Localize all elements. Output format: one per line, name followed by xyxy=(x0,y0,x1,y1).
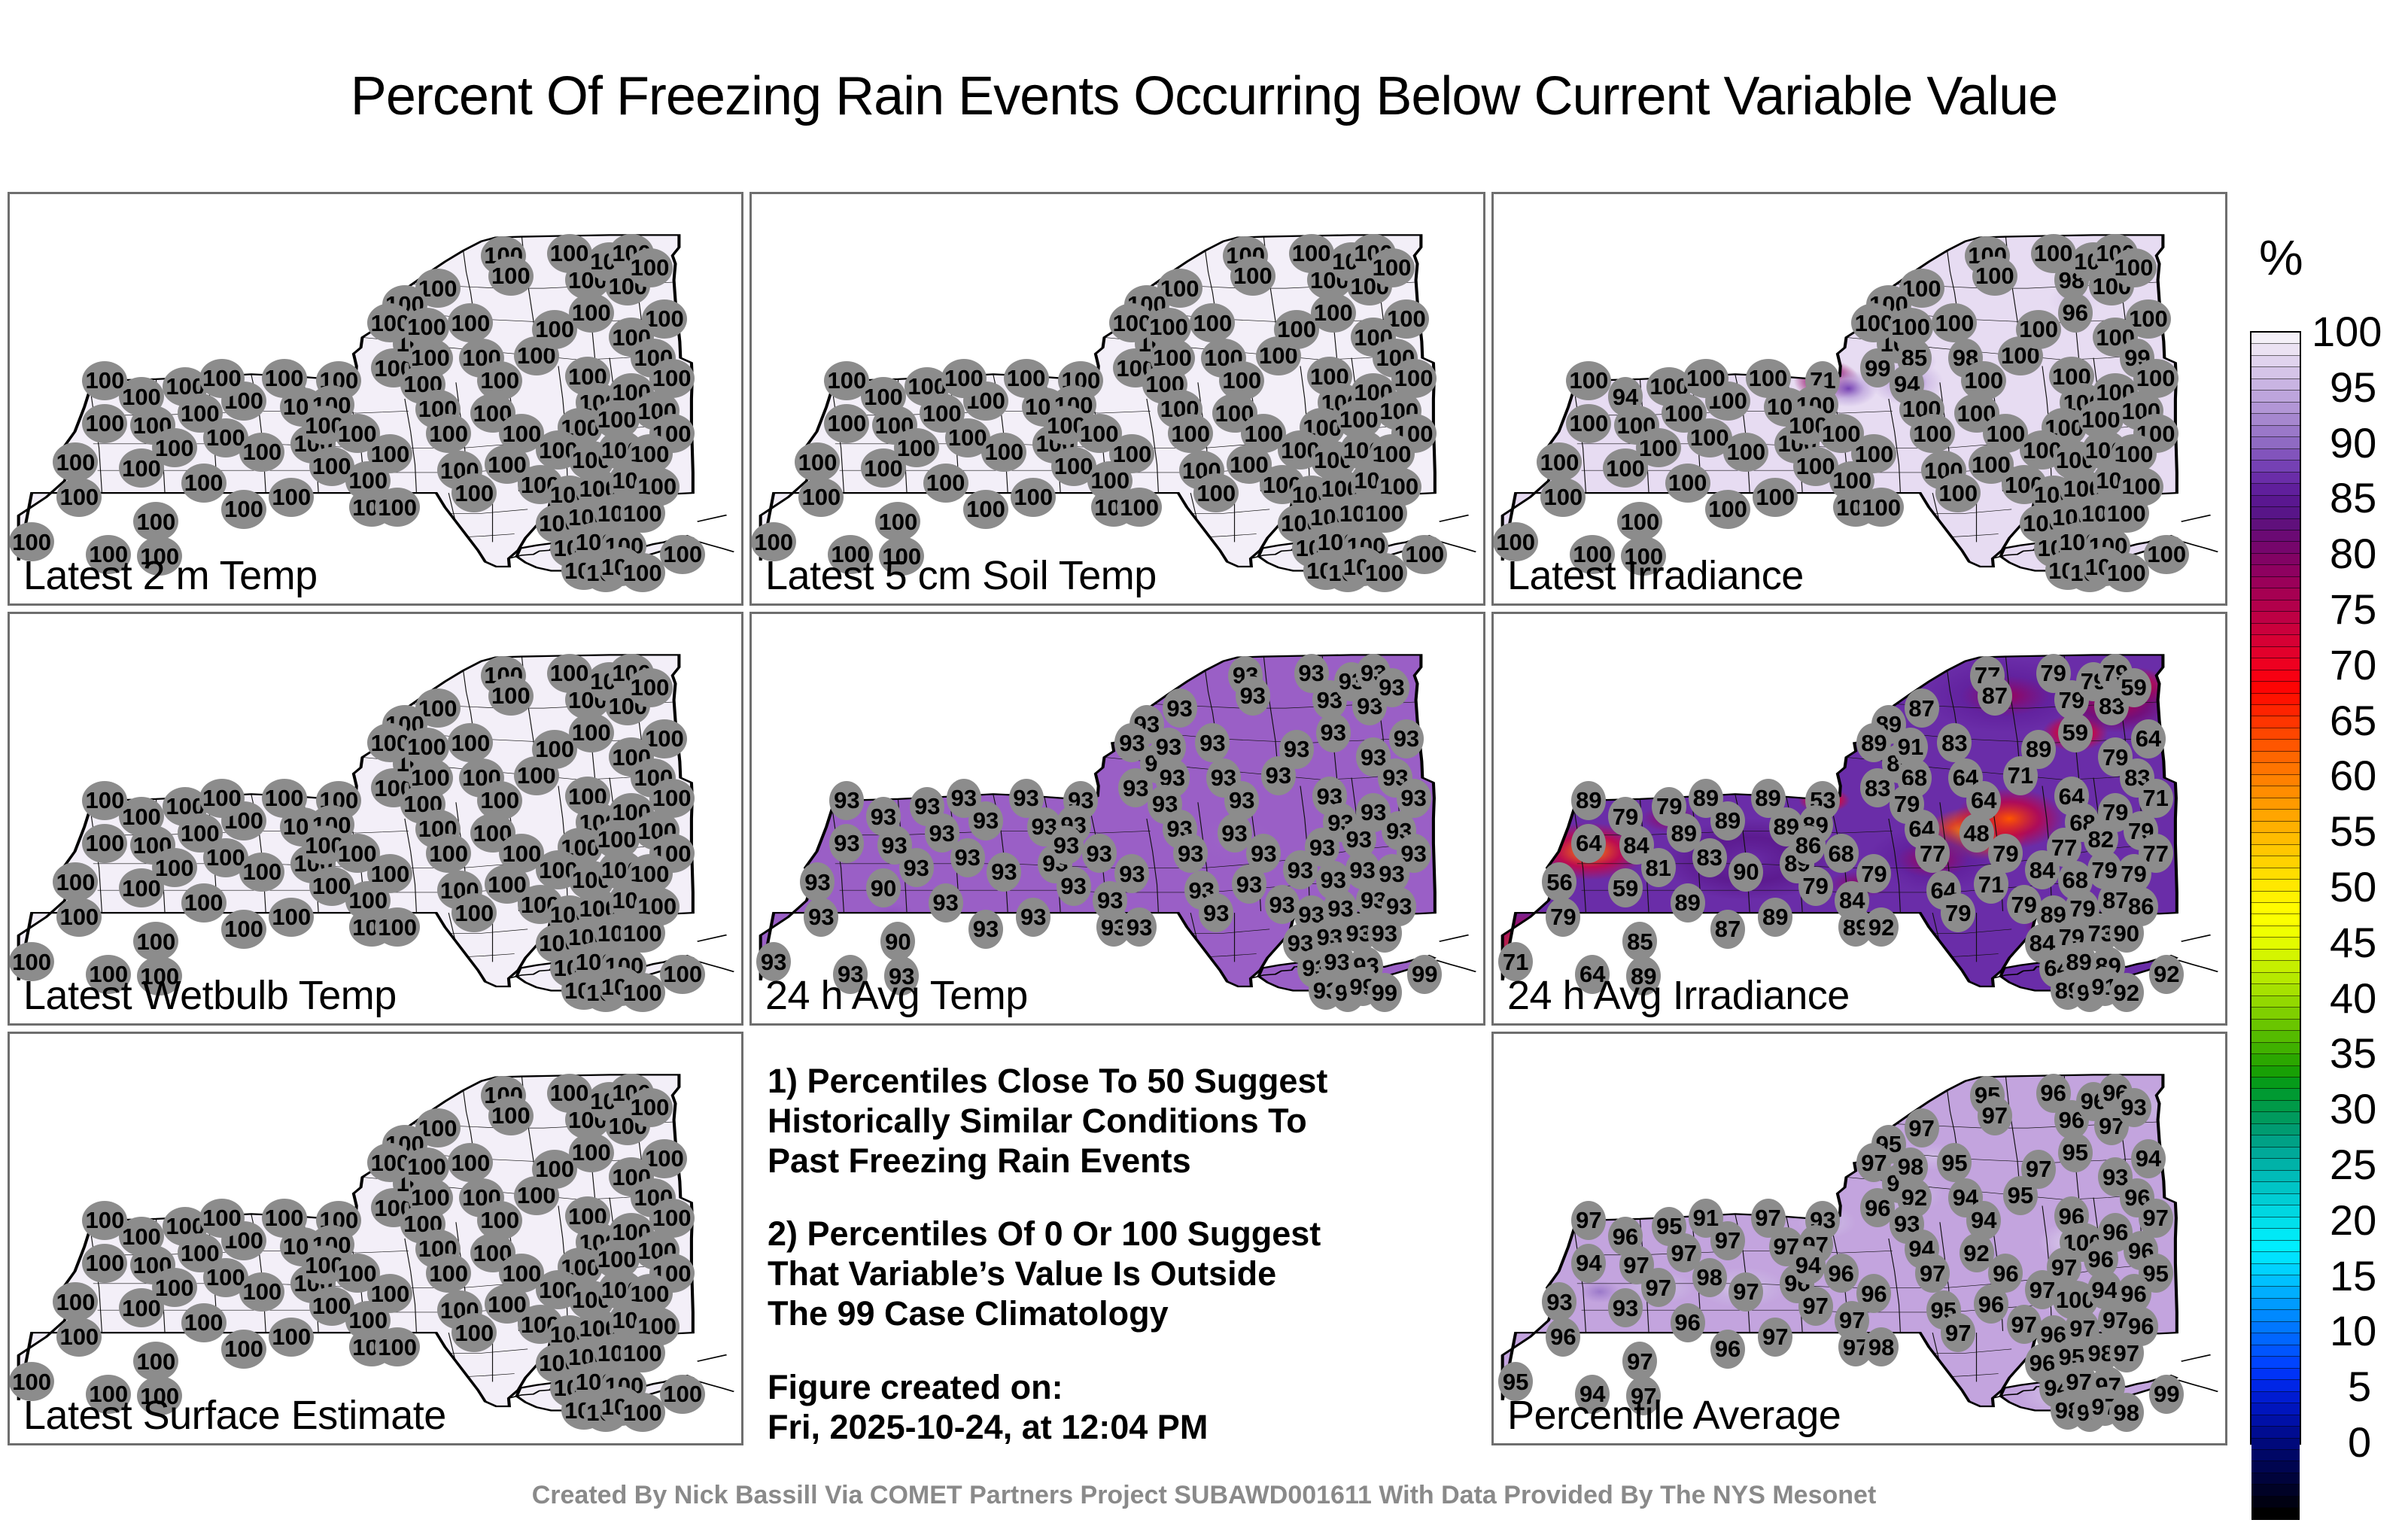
station-value: 96 xyxy=(2058,293,2093,333)
station-value: 100 xyxy=(1566,361,1611,400)
station-value: 84 xyxy=(2025,850,2060,889)
station-marker[interactable]: 100 xyxy=(894,428,939,467)
panel-latest-2m-temp[interactable]: 1001001001001001001001001001001001001001… xyxy=(8,192,743,606)
colorbar-segment xyxy=(2251,1287,2300,1298)
station-value: 89 xyxy=(1571,781,1606,820)
station-value: 68 xyxy=(1824,834,1859,873)
station-marker[interactable]: 90 xyxy=(1728,853,1763,892)
station-marker[interactable]: 83 xyxy=(1692,838,1727,877)
station-marker[interactable]: 93 xyxy=(1316,713,1351,752)
station-value: 97 xyxy=(1728,1272,1763,1312)
notes-block: 1) Percentiles Close To 50 Suggest Histo… xyxy=(768,1061,1475,1447)
panel-latest-wetbulb-temp[interactable]: 1001001001001001001001001001001001001001… xyxy=(8,612,743,1026)
station-marker[interactable]: 100 xyxy=(269,898,314,937)
station-marker[interactable]: 93 xyxy=(1195,723,1230,762)
station-marker[interactable]: 97 xyxy=(1622,1342,1657,1381)
station-marker[interactable]: 93 xyxy=(1608,1288,1643,1327)
station-marker[interactable]: 96 xyxy=(1671,1303,1705,1342)
station-value: 93 xyxy=(1199,893,1233,932)
station-marker[interactable]: 100 xyxy=(181,883,227,923)
station-marker[interactable]: 86 xyxy=(1791,825,1826,865)
station-value: 100 xyxy=(1851,434,1896,473)
station-value: 99 xyxy=(2149,1375,2184,1414)
station-marker[interactable]: 93 xyxy=(1375,668,1409,707)
station-marker[interactable]: 97 xyxy=(2021,1150,2056,1189)
station-value: 93 xyxy=(899,848,934,887)
station-marker[interactable]: 79 xyxy=(1546,898,1580,937)
station-marker[interactable]: 97 xyxy=(1905,1108,1939,1147)
station-marker[interactable]: 100 xyxy=(1540,478,1586,517)
station-marker[interactable]: 100 xyxy=(221,910,266,949)
station-marker[interactable]: 100 xyxy=(152,848,197,887)
station-marker[interactable]: 100 xyxy=(1665,464,1710,503)
station-marker[interactable]: 98 xyxy=(1692,1258,1727,1297)
station-marker[interactable]: 100 xyxy=(981,433,1026,472)
station-marker[interactable]: 100 xyxy=(1972,257,2017,296)
station-marker[interactable]: 93 xyxy=(1279,730,1314,769)
colorbar-segment xyxy=(2251,1333,2300,1345)
station-value: 100 xyxy=(1636,428,1681,467)
station-marker[interactable]: 59 xyxy=(2058,713,2093,752)
station-value: 93 xyxy=(950,838,985,877)
station-marker[interactable]: 96 xyxy=(1856,1274,1891,1313)
station-value: 93 xyxy=(1016,898,1050,937)
station-value: 93 xyxy=(1163,688,1197,728)
figure-title: Percent Of Freezing Rain Events Occurrin… xyxy=(0,69,2408,123)
station-marker[interactable]: 93 xyxy=(2117,1088,2151,1127)
station-marker[interactable]: 100 xyxy=(239,433,284,472)
station-marker[interactable]: 100 xyxy=(628,248,673,287)
colorbar-tick-label: 25 xyxy=(2330,1140,2376,1189)
station-marker[interactable]: 93 xyxy=(947,779,981,818)
station-value: 100 xyxy=(1753,478,1798,517)
station-marker[interactable]: 92 xyxy=(2149,955,2184,994)
station-value: 96 xyxy=(1710,1330,1745,1369)
station-marker[interactable]: 100 xyxy=(1402,535,1447,574)
station-marker[interactable]: 97 xyxy=(1571,1201,1606,1240)
station-marker[interactable]: 93 xyxy=(1389,719,1424,758)
station-marker[interactable]: 100 xyxy=(1537,442,1582,482)
station-value: 100 xyxy=(56,478,102,517)
station-value: 100 xyxy=(1617,502,1662,541)
panel-latest-irradiance[interactable]: 1001001001001001001001001009410010010010… xyxy=(1491,192,2227,606)
station-marker[interactable]: 96 xyxy=(1974,1284,2008,1324)
station-marker[interactable]: 85 xyxy=(1622,922,1657,961)
panel-percentile-average[interactable]: 9596949394939797979697979597969897919797… xyxy=(1491,1032,2227,1445)
station-marker[interactable]: 100 xyxy=(1705,490,1750,529)
colorbar-segment xyxy=(2251,728,2300,740)
station-value: 100 xyxy=(269,1318,314,1357)
station-value: 93 xyxy=(1195,723,1230,762)
station-marker[interactable]: 100 xyxy=(1230,257,1275,296)
station-marker[interactable]: 100 xyxy=(56,898,102,937)
station-marker[interactable]: 100 xyxy=(53,442,98,482)
station-value: 100 xyxy=(1362,553,1407,592)
panel-latest-surface-estimate[interactable]: 1001001001001001001001001001001001001001… xyxy=(8,1032,743,1445)
station-marker[interactable]: 100 xyxy=(620,973,665,1012)
station-marker[interactable]: 100 xyxy=(1636,428,1681,467)
colorbar: % 10095908580757065605550454035302520151… xyxy=(2242,241,2408,1460)
panel-latest-5cm-soil-temp[interactable]: 1001001001001001001001001001001001001001… xyxy=(749,192,1485,606)
station-marker[interactable]: 100 xyxy=(1168,414,1213,453)
colorbar-segment xyxy=(2251,1415,2300,1427)
station-marker[interactable]: 100 xyxy=(2016,310,2061,349)
station-marker[interactable]: 95 xyxy=(1937,1143,1972,1182)
station-marker[interactable]: 100 xyxy=(1888,308,1933,347)
station-marker[interactable]: 97 xyxy=(1641,1268,1676,1307)
station-value: 77 xyxy=(1915,834,1950,873)
colorbar-segment xyxy=(2251,367,2300,378)
station-marker[interactable]: 68 xyxy=(1824,834,1859,873)
station-marker[interactable]: 91 xyxy=(1689,1199,1723,1238)
colorbar-segment xyxy=(2251,1020,2300,1031)
colorbar-segment xyxy=(2251,950,2300,961)
colorbar-tick-label: 65 xyxy=(2330,696,2376,745)
station-value: 100 xyxy=(628,248,673,287)
station-marker[interactable]: 89 xyxy=(1571,781,1606,820)
colorbar-segment xyxy=(2251,1439,2300,1450)
station-marker[interactable]: 100 xyxy=(367,1274,412,1313)
station-marker[interactable]: 95 xyxy=(2058,1133,2093,1172)
station-value: 98 xyxy=(2109,1393,2144,1432)
station-marker[interactable]: 100 xyxy=(1190,303,1235,342)
colorbar-segment xyxy=(2251,1264,2300,1275)
station-marker[interactable]: 100 xyxy=(448,1143,493,1182)
station-marker[interactable]: 100 xyxy=(1370,248,1415,287)
station-marker[interactable]: 100 xyxy=(660,535,705,574)
station-marker[interactable]: 93 xyxy=(1542,1282,1576,1321)
station-marker[interactable]: 100 xyxy=(620,1393,665,1432)
station-marker[interactable]: 79 xyxy=(1856,854,1891,893)
station-value: 100 xyxy=(404,728,449,767)
station-value: 100 xyxy=(269,478,314,517)
station-marker[interactable]: 93 xyxy=(1082,834,1117,873)
station-marker[interactable]: 100 xyxy=(1723,433,1768,472)
colorbar-segment xyxy=(2251,1357,2300,1368)
station-marker[interactable]: 100 xyxy=(1566,404,1611,443)
station-marker[interactable]: 97 xyxy=(1915,1254,1950,1293)
colorbar-segment xyxy=(2251,775,2300,786)
panel-label-24h-avg-temp: 24 h Avg Temp xyxy=(765,972,1028,1019)
station-marker[interactable]: 79 xyxy=(1941,893,1975,932)
station-marker[interactable]: 100 xyxy=(199,359,245,398)
station-marker[interactable]: 100 xyxy=(152,428,197,467)
station-marker[interactable]: 59 xyxy=(2117,668,2151,707)
colorbar-tick-label: 40 xyxy=(2330,974,2376,1023)
colorbar-segment xyxy=(2251,786,2300,798)
station-marker[interactable]: 93 xyxy=(829,781,864,820)
station-marker[interactable]: 96 xyxy=(1546,1318,1580,1357)
station-value: 100 xyxy=(221,910,266,949)
colorbar-segment xyxy=(2251,1427,2300,1438)
station-marker[interactable]: 100 xyxy=(1932,303,1977,342)
station-marker[interactable]: 97 xyxy=(1856,1143,1891,1182)
station-marker[interactable]: 91 xyxy=(1893,728,1928,767)
station-marker[interactable]: 93 xyxy=(1049,825,1084,865)
station-marker[interactable]: 98 xyxy=(1893,1147,1928,1187)
station-marker[interactable]: 84 xyxy=(2025,850,2060,889)
station-marker[interactable]: 89 xyxy=(1671,883,1705,923)
colorbar-segment xyxy=(2251,752,2300,763)
colorbar-segment xyxy=(2251,740,2300,751)
station-marker[interactable]: 100 xyxy=(1362,553,1407,592)
station-marker[interactable]: 89 xyxy=(1689,779,1723,818)
colorbar-segment xyxy=(2251,1089,2300,1100)
station-marker[interactable]: 100 xyxy=(660,955,705,994)
station-marker[interactable]: 100 xyxy=(426,414,471,453)
station-value: 87 xyxy=(1710,910,1745,949)
colorbar-segment xyxy=(2251,880,2300,891)
station-marker[interactable]: 100 xyxy=(239,1272,284,1312)
station-marker[interactable]: 100 xyxy=(221,490,266,529)
station-marker[interactable]: 93 xyxy=(929,883,963,923)
station-value: 100 xyxy=(56,1318,102,1357)
station-marker[interactable]: 71 xyxy=(1974,865,2008,904)
station-marker[interactable]: 89 xyxy=(1758,898,1792,937)
station-value: 100 xyxy=(2104,553,2149,592)
colorbar-segment xyxy=(2251,1043,2300,1054)
station-value: 93 xyxy=(1279,730,1314,769)
colorbar-segment xyxy=(2251,938,2300,949)
station-marker[interactable]: 59 xyxy=(1608,868,1643,907)
colorbar-segment xyxy=(2251,845,2300,856)
station-marker[interactable]: 87 xyxy=(1710,910,1745,949)
colorbar-tick-label: 20 xyxy=(2330,1196,2376,1245)
station-marker[interactable]: 100 xyxy=(963,490,1008,529)
station-marker[interactable]: 77 xyxy=(1915,834,1950,873)
station-value: 86 xyxy=(1791,825,1826,865)
station-marker[interactable]: 87 xyxy=(1905,688,1939,728)
station-value: 100 xyxy=(1146,308,1191,347)
station-marker[interactable]: 87 xyxy=(1978,676,2012,716)
station-marker[interactable]: 100 xyxy=(1146,308,1191,347)
station-marker[interactable]: 100 xyxy=(199,1199,245,1238)
station-marker[interactable]: 100 xyxy=(367,854,412,893)
station-marker[interactable]: 100 xyxy=(798,478,844,517)
station-marker[interactable]: 90 xyxy=(880,922,915,961)
station-marker[interactable]: 93 xyxy=(1163,688,1197,728)
station-marker[interactable]: 100 xyxy=(181,1303,227,1342)
station-marker[interactable]: 98 xyxy=(2109,1393,2144,1432)
station-marker[interactable]: 100 xyxy=(181,464,227,503)
panel-24h-avg-irradiance[interactable]: 7179645664598589897984817989898389899089… xyxy=(1491,612,2227,1026)
station-marker[interactable]: 90 xyxy=(866,868,901,907)
station-value: 79 xyxy=(1856,854,1891,893)
colorbar-segment xyxy=(2251,426,2300,437)
station-value: 100 xyxy=(875,502,920,541)
colorbar-segment xyxy=(2251,892,2300,903)
station-marker[interactable]: 92 xyxy=(2109,973,2144,1012)
station-marker[interactable]: 93 xyxy=(1016,898,1050,937)
station-marker[interactable]: 94 xyxy=(2131,1139,2166,1178)
colorbar-segment xyxy=(2251,473,2300,484)
station-marker[interactable]: 97 xyxy=(1941,1313,1975,1352)
figure-root: Percent Of Freezing Rain Events Occurrin… xyxy=(0,0,2408,1535)
station-value: 89 xyxy=(1689,779,1723,818)
station-marker[interactable]: 93 xyxy=(950,838,985,877)
station-marker[interactable]: 99 xyxy=(1407,955,1442,994)
station-marker[interactable]: 100 xyxy=(53,862,98,901)
station-marker[interactable]: 100 xyxy=(448,723,493,762)
colorbar-tick-label: 30 xyxy=(2330,1084,2376,1133)
station-marker[interactable]: 64 xyxy=(1571,824,1606,863)
station-marker[interactable]: 100 xyxy=(239,853,284,892)
colorbar-segment xyxy=(2251,403,2300,414)
station-marker[interactable]: 100 xyxy=(488,257,534,296)
station-marker[interactable]: 100 xyxy=(1753,478,1798,517)
station-value: 100 xyxy=(963,490,1008,529)
station-marker[interactable]: 100 xyxy=(1109,434,1154,473)
station-value: 89 xyxy=(1671,883,1705,923)
station-marker[interactable]: 100 xyxy=(133,1342,178,1381)
panel-label-latest-surface-estimate: Latest Surface Estimate xyxy=(23,1392,446,1439)
colorbar-segment xyxy=(2251,763,2300,774)
station-marker[interactable]: 93 xyxy=(899,848,934,887)
station-marker[interactable]: 100 xyxy=(56,478,102,517)
station-value: 93 xyxy=(829,781,864,820)
station-marker[interactable]: 100 xyxy=(923,464,968,503)
colorbar-segment xyxy=(2251,1461,2300,1473)
station-marker[interactable]: 94 xyxy=(1571,1244,1606,1283)
colorbar-segment xyxy=(2251,856,2300,868)
station-marker[interactable]: 100 xyxy=(1683,359,1728,398)
station-value: 100 xyxy=(1972,257,2017,296)
station-marker[interactable]: 93 xyxy=(1199,893,1233,932)
station-marker[interactable]: 100 xyxy=(1011,478,1056,517)
note2-line3: The 99 Case Climatology xyxy=(768,1293,1475,1333)
station-marker[interactable]: 100 xyxy=(875,502,920,541)
colorbar-gradient xyxy=(2250,331,2301,1445)
station-marker[interactable]: 100 xyxy=(1566,361,1611,400)
station-marker[interactable]: 97 xyxy=(1978,1096,2012,1135)
colorbar-segment xyxy=(2251,716,2300,728)
station-marker[interactable]: 100 xyxy=(1910,414,1955,453)
station-marker[interactable]: 100 xyxy=(620,553,665,592)
station-marker[interactable]: 97 xyxy=(1728,1272,1763,1312)
station-marker[interactable]: 93 xyxy=(829,824,864,863)
station-marker[interactable]: 93 xyxy=(968,910,1003,949)
station-marker[interactable]: 93 xyxy=(987,853,1021,892)
station-marker[interactable]: 100 xyxy=(367,434,412,473)
colorbar-segment xyxy=(2251,1403,2300,1415)
station-value: 100 xyxy=(426,834,471,873)
station-marker[interactable]: 100 xyxy=(2144,535,2189,574)
station-marker[interactable]: 100 xyxy=(53,1282,98,1321)
station-marker[interactable]: 56 xyxy=(1542,862,1576,901)
station-marker[interactable]: 81 xyxy=(1641,848,1676,887)
colorbar-segment xyxy=(2251,996,2300,1008)
station-marker[interactable]: 100 xyxy=(660,1375,705,1414)
station-marker[interactable]: 96 xyxy=(1824,1254,1859,1293)
colorbar-segment xyxy=(2251,1345,2300,1357)
station-marker[interactable]: 100 xyxy=(404,308,449,347)
note1-line2: Historically Similar Conditions To xyxy=(768,1101,1475,1141)
station-marker[interactable]: 100 xyxy=(269,478,314,517)
station-value: 64 xyxy=(2131,719,2166,758)
station-marker[interactable]: 100 xyxy=(2104,553,2149,592)
station-value: 97 xyxy=(1978,1096,2012,1135)
colorbar-segment xyxy=(2251,1066,2300,1078)
station-marker[interactable]: 96 xyxy=(1710,1330,1745,1369)
colorbar-segment xyxy=(2251,682,2300,693)
station-marker[interactable]: 93 xyxy=(1236,676,1270,716)
station-marker[interactable]: 100 xyxy=(628,668,673,707)
station-marker[interactable]: 100 xyxy=(1617,502,1662,541)
station-marker[interactable]: 99 xyxy=(1367,973,1402,1012)
station-value: 100 xyxy=(152,1268,197,1307)
station-value: 100 xyxy=(448,1143,493,1182)
station-marker[interactable]: 93 xyxy=(1283,850,1318,889)
station-value: 97 xyxy=(1758,1318,1792,1357)
station-marker[interactable]: 89 xyxy=(1856,723,1891,762)
station-marker[interactable]: 100 xyxy=(152,1268,197,1307)
station-marker[interactable]: 100 xyxy=(628,1088,673,1127)
station-value: 100 xyxy=(269,898,314,937)
station-marker[interactable]: 100 xyxy=(426,834,471,873)
station-marker[interactable]: 93 xyxy=(1114,854,1149,893)
station-marker[interactable]: 100 xyxy=(795,442,840,482)
station-marker[interactable]: 94 xyxy=(1791,1245,1826,1284)
station-marker[interactable]: 100 xyxy=(488,1096,534,1135)
station-marker[interactable]: 93 xyxy=(800,862,835,901)
colorbar-segment xyxy=(2251,612,2300,623)
station-marker[interactable]: 100 xyxy=(426,1254,471,1293)
station-value: 100 xyxy=(1537,442,1582,482)
colorbar-tick-label: 45 xyxy=(2330,918,2376,967)
colorbar-tick-label: 60 xyxy=(2330,751,2376,800)
station-value: 79 xyxy=(1546,898,1580,937)
station-marker[interactable]: 93 xyxy=(804,898,838,937)
station-marker[interactable]: 93 xyxy=(1173,834,1208,873)
panel-24h-avg-temp[interactable]: 9393939393909093939393939393939393939393… xyxy=(749,612,1485,1026)
station-marker[interactable]: 100 xyxy=(488,676,534,716)
station-marker[interactable]: 99 xyxy=(2149,1375,2184,1414)
colorbar-segment xyxy=(2251,635,2300,646)
station-value: 100 xyxy=(53,862,98,901)
colorbar-segment xyxy=(2251,1147,2300,1159)
station-marker[interactable]: 100 xyxy=(404,728,449,767)
station-marker[interactable]: 100 xyxy=(269,1318,314,1357)
station-value: 100 xyxy=(1705,490,1750,529)
station-marker[interactable]: 83 xyxy=(1937,723,1972,762)
station-marker[interactable]: 100 xyxy=(221,1330,266,1369)
station-value: 100 xyxy=(404,1147,449,1187)
colorbar-segment xyxy=(2251,810,2300,821)
station-marker[interactable]: 100 xyxy=(56,1318,102,1357)
station-marker[interactable]: 100 xyxy=(941,359,987,398)
station-marker[interactable]: 100 xyxy=(404,1147,449,1187)
station-marker[interactable]: 100 xyxy=(133,502,178,541)
station-marker[interactable]: 93 xyxy=(1232,865,1266,904)
station-value: 97 xyxy=(2021,1150,2056,1189)
station-marker[interactable]: 93 xyxy=(1114,723,1149,762)
station-marker[interactable]: 100 xyxy=(2112,248,2157,287)
station-marker[interactable]: 64 xyxy=(2131,719,2166,758)
station-marker[interactable]: 100 xyxy=(448,303,493,342)
colorbar-segment xyxy=(2251,868,2300,880)
station-marker[interactable]: 100 xyxy=(133,922,178,961)
station-marker[interactable]: 89 xyxy=(2021,730,2056,769)
station-value: 81 xyxy=(1641,848,1676,887)
station-marker[interactable]: 93 xyxy=(1151,728,1186,767)
station-marker[interactable]: 100 xyxy=(199,779,245,818)
station-value: 90 xyxy=(866,868,901,907)
station-marker[interactable]: 97 xyxy=(1758,1318,1792,1357)
station-marker[interactable]: 100 xyxy=(1851,434,1896,473)
station-marker[interactable]: 96 xyxy=(2058,293,2093,333)
station-value: 95 xyxy=(1937,1143,1972,1182)
notes-gap-2 xyxy=(768,1334,1475,1367)
